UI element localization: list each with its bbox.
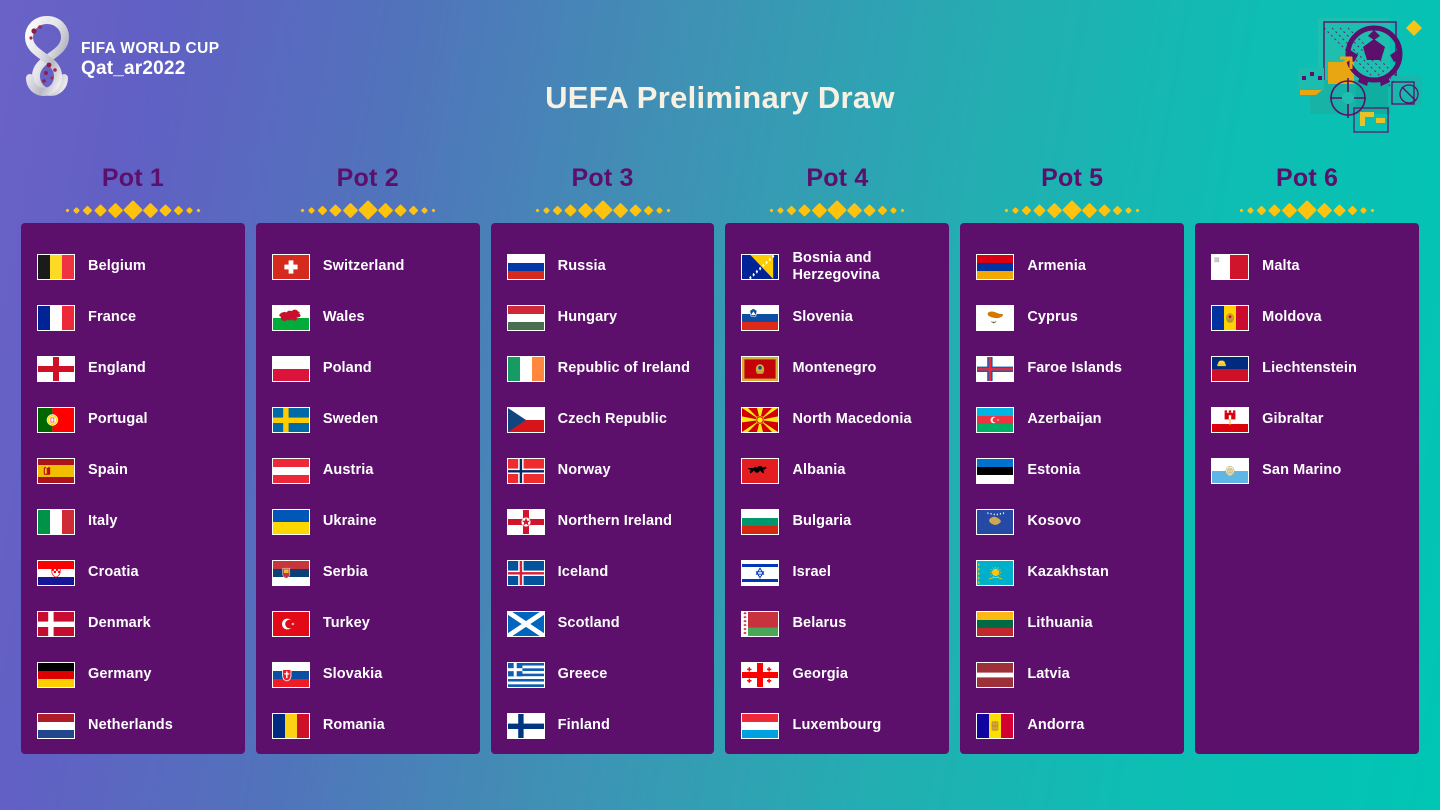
- flag-icon-sc: [507, 611, 545, 637]
- flag-icon-it: [37, 509, 75, 535]
- diamond-icon: [777, 206, 784, 213]
- team-name: Austria: [323, 462, 374, 478]
- diamond-icon: [770, 208, 774, 212]
- team-row[interactable]: Northern Ireland: [491, 496, 715, 547]
- team-row[interactable]: Norway: [491, 445, 715, 496]
- team-name: Bosnia and Herzegovina: [792, 250, 949, 282]
- team-name: Norway: [558, 462, 611, 478]
- team-name: Germany: [88, 666, 152, 682]
- flag-icon-hu: [507, 305, 545, 331]
- team-row[interactable]: Kosovo: [960, 496, 1184, 547]
- flag-icon-en: [37, 356, 75, 382]
- team-name: Andorra: [1027, 717, 1084, 733]
- diamond-icon: [300, 208, 304, 212]
- diamond-icon: [65, 208, 69, 212]
- pot-title: Pot 3: [491, 166, 715, 197]
- brand-line-fifa-world-cup: FIFA WORLD CUP: [81, 41, 220, 57]
- pot-panel: ArmeniaCyprusFaroe IslandsAzerbaijanEsto…: [960, 223, 1184, 754]
- diamond-icon: [123, 200, 143, 220]
- flag-icon-am: [976, 254, 1014, 280]
- flag-icon-sm: [1211, 458, 1249, 484]
- flag-icon-me: [741, 356, 779, 382]
- team-name: Wales: [323, 309, 365, 325]
- team-name: Latvia: [1027, 666, 1070, 682]
- qatar-2022-pattern-collage-icon: [1288, 6, 1428, 136]
- diamond-icon: [1082, 202, 1098, 218]
- team-row[interactable]: Czech Republic: [491, 394, 715, 445]
- diamond-icon: [317, 205, 327, 215]
- diamond-icon: [901, 208, 905, 212]
- page-title: UEFA Preliminary Draw: [0, 80, 1440, 116]
- team-name: San Marino: [1262, 462, 1341, 478]
- diamond-icon: [535, 208, 539, 212]
- diamond-icon: [543, 206, 550, 213]
- team-row[interactable]: Luxembourg: [725, 700, 949, 751]
- flag-icon-ro: [272, 713, 310, 739]
- team-row[interactable]: Wales: [256, 292, 480, 343]
- diamond-icon: [612, 202, 628, 218]
- pot-title: Pot 5: [960, 166, 1184, 197]
- flag-icon-al: [741, 458, 779, 484]
- team-name: Gibraltar: [1262, 411, 1323, 427]
- team-row[interactable]: Sweden: [256, 394, 480, 445]
- flag-icon-lt: [976, 611, 1014, 637]
- team-name: Kazakhstan: [1027, 564, 1109, 580]
- team-name: France: [88, 309, 136, 325]
- team-row[interactable]: Kazakhstan: [960, 547, 1184, 598]
- flag-icon-fo: [976, 356, 1014, 382]
- flag-icon-es: [37, 458, 75, 484]
- diamond-icon: [108, 202, 124, 218]
- diamond-icon: [643, 205, 653, 215]
- diamond-icon: [377, 202, 393, 218]
- team-name: Switzerland: [323, 258, 405, 274]
- team-row[interactable]: Bulgaria: [725, 496, 949, 547]
- team-name: Liechtenstein: [1262, 360, 1357, 376]
- pots-container: Pot 1BelgiumFranceEnglandPortugalSpainIt…: [21, 166, 1419, 754]
- flag-icon-nl: [37, 713, 75, 739]
- flag-icon-ie: [507, 356, 545, 382]
- diamond-icon: [799, 204, 812, 217]
- team-name: Netherlands: [88, 717, 173, 733]
- team-name: Finland: [558, 717, 610, 733]
- diamond-icon: [143, 202, 159, 218]
- flag-icon-by: [741, 611, 779, 637]
- team-row[interactable]: Scotland: [491, 598, 715, 649]
- flag-icon-tr: [272, 611, 310, 637]
- diamond-icon: [1257, 205, 1267, 215]
- team-row[interactable]: Azerbaijan: [960, 394, 1184, 445]
- team-name: Serbia: [323, 564, 368, 580]
- diamond-icon: [1136, 208, 1140, 212]
- team-name: England: [88, 360, 146, 376]
- team-row[interactable]: Latvia: [960, 649, 1184, 700]
- flag-icon-no: [507, 458, 545, 484]
- diamond-icon: [593, 200, 613, 220]
- team-name: Belgium: [88, 258, 146, 274]
- team-name: Azerbaijan: [1027, 411, 1101, 427]
- pot-title: Pot 6: [1195, 166, 1419, 197]
- team-row[interactable]: Malta: [1195, 241, 1419, 292]
- team-row[interactable]: Switzerland: [256, 241, 480, 292]
- team-name: Slovakia: [323, 666, 383, 682]
- diamond-icon: [186, 206, 193, 213]
- flag-icon-fi: [507, 713, 545, 739]
- team-name: Spain: [88, 462, 128, 478]
- flag-icon-rs: [272, 560, 310, 586]
- diamond-icon: [564, 204, 577, 217]
- diamond-icon: [656, 206, 663, 213]
- diamond-divider: [21, 197, 245, 223]
- team-name: Cyprus: [1027, 309, 1078, 325]
- team-row[interactable]: Hungary: [491, 292, 715, 343]
- pot-title: Pot 4: [725, 166, 949, 197]
- pot-column-3: Pot 3RussiaHungaryRepublic of IrelandCze…: [491, 166, 715, 754]
- team-name: Czech Republic: [558, 411, 667, 427]
- flag-icon-cy: [976, 305, 1014, 331]
- diamond-icon: [666, 208, 670, 212]
- team-row[interactable]: England: [21, 343, 245, 394]
- team-name: Belarus: [792, 615, 846, 631]
- pot-panel: MaltaMoldovaLiechtensteinGibraltarSan Ma…: [1195, 223, 1419, 754]
- flag-icon-il: [741, 560, 779, 586]
- flag-icon-lu: [741, 713, 779, 739]
- team-name: Turkey: [323, 615, 370, 631]
- team-name: Portugal: [88, 411, 148, 427]
- team-row[interactable]: Italy: [21, 496, 245, 547]
- team-name: Albania: [792, 462, 845, 478]
- team-name: Romania: [323, 717, 385, 733]
- team-row[interactable]: Faroe Islands: [960, 343, 1184, 394]
- diamond-icon: [1268, 204, 1281, 217]
- team-row[interactable]: Russia: [491, 241, 715, 292]
- flag-icon-gr: [507, 662, 545, 688]
- team-row[interactable]: Greece: [491, 649, 715, 700]
- flag-icon-se: [272, 407, 310, 433]
- diamond-icon: [577, 202, 593, 218]
- pot-panel: BelgiumFranceEnglandPortugalSpainItalyCr…: [21, 223, 245, 754]
- team-name: Hungary: [558, 309, 618, 325]
- team-row[interactable]: Bosnia and Herzegovina: [725, 241, 949, 292]
- team-name: Estonia: [1027, 462, 1080, 478]
- diamond-icon: [1297, 200, 1317, 220]
- diamond-icon: [173, 205, 183, 215]
- flag-icon-dk: [37, 611, 75, 637]
- team-row[interactable]: Andorra: [960, 700, 1184, 751]
- team-name: Denmark: [88, 615, 151, 631]
- team-name: Italy: [88, 513, 118, 529]
- team-name: Ukraine: [323, 513, 377, 529]
- flag-icon-de: [37, 662, 75, 688]
- team-name: Malta: [1262, 258, 1300, 274]
- team-row[interactable]: Republic of Ireland: [491, 343, 715, 394]
- diamond-icon: [196, 208, 200, 212]
- diamond-icon: [1348, 205, 1358, 215]
- diamond-icon: [1333, 204, 1346, 217]
- diamond-icon: [878, 205, 888, 215]
- team-row[interactable]: Austria: [256, 445, 480, 496]
- team-name: Luxembourg: [792, 717, 881, 733]
- team-name: Lithuania: [1027, 615, 1092, 631]
- diamond-icon: [552, 205, 562, 215]
- diamond-divider: [960, 197, 1184, 223]
- team-row[interactable]: Portugal: [21, 394, 245, 445]
- pot-panel: SwitzerlandWalesPolandSwedenAustriaUkrai…: [256, 223, 480, 754]
- diamond-icon: [1125, 206, 1132, 213]
- flag-icon-gi: [1211, 407, 1249, 433]
- team-name: Kosovo: [1027, 513, 1081, 529]
- team-row[interactable]: Moldova: [1195, 292, 1419, 343]
- flag-icon-mt: [1211, 254, 1249, 280]
- team-row[interactable]: Netherlands: [21, 700, 245, 751]
- team-row[interactable]: Slovenia: [725, 292, 949, 343]
- team-row[interactable]: Gibraltar: [1195, 394, 1419, 445]
- team-row[interactable]: Croatia: [21, 547, 245, 598]
- team-row[interactable]: Montenegro: [725, 343, 949, 394]
- pot-title: Pot 1: [21, 166, 245, 197]
- flag-icon-kz: [976, 560, 1014, 586]
- diamond-icon: [394, 204, 407, 217]
- team-row[interactable]: North Macedonia: [725, 394, 949, 445]
- team-row[interactable]: France: [21, 292, 245, 343]
- diamond-icon: [1370, 208, 1374, 212]
- diamond-icon: [308, 206, 315, 213]
- diamond-icon: [73, 206, 80, 213]
- pot-panel: Bosnia and HerzegovinaSloveniaMontenegro…: [725, 223, 949, 754]
- team-name: Croatia: [88, 564, 139, 580]
- team-name: Armenia: [1027, 258, 1086, 274]
- team-name: Poland: [323, 360, 372, 376]
- diamond-icon: [431, 208, 435, 212]
- diamond-divider: [1195, 197, 1419, 223]
- diamond-icon: [1005, 208, 1009, 212]
- diamond-icon: [408, 205, 418, 215]
- diamond-icon: [1247, 206, 1254, 213]
- team-row[interactable]: Germany: [21, 649, 245, 700]
- flag-icon-ee: [976, 458, 1014, 484]
- diamond-divider: [256, 197, 480, 223]
- diamond-icon: [159, 204, 172, 217]
- flag-icon-mk: [741, 407, 779, 433]
- diamond-icon: [864, 204, 877, 217]
- team-row[interactable]: Romania: [256, 700, 480, 751]
- team-name: Georgia: [792, 666, 848, 682]
- flag-icon-sk: [272, 662, 310, 688]
- diamond-icon: [890, 206, 897, 213]
- diamond-icon: [94, 204, 107, 217]
- flag-icon-az: [976, 407, 1014, 433]
- team-name: Russia: [558, 258, 606, 274]
- pot-column-4: Pot 4Bosnia and HerzegovinaSloveniaMonte…: [725, 166, 949, 754]
- pot-column-5: Pot 5ArmeniaCyprusFaroe IslandsAzerbaija…: [960, 166, 1184, 754]
- diamond-icon: [421, 206, 428, 213]
- diamond-icon: [1360, 206, 1367, 213]
- team-name: Scotland: [558, 615, 620, 631]
- team-row[interactable]: Turkey: [256, 598, 480, 649]
- team-row[interactable]: Ukraine: [256, 496, 480, 547]
- team-row[interactable]: Slovakia: [256, 649, 480, 700]
- team-row[interactable]: Iceland: [491, 547, 715, 598]
- team-row[interactable]: Finland: [491, 700, 715, 751]
- flag-icon-is: [507, 560, 545, 586]
- flag-icon-li: [1211, 356, 1249, 382]
- diamond-icon: [827, 200, 847, 220]
- diamond-icon: [1239, 208, 1243, 212]
- flag-icon-ch: [272, 254, 310, 280]
- team-name: Iceland: [558, 564, 609, 580]
- pot-column-2: Pot 2SwitzerlandWalesPolandSwedenAustria…: [256, 166, 480, 754]
- diamond-icon: [812, 202, 828, 218]
- diamond-icon: [629, 204, 642, 217]
- team-row[interactable]: Poland: [256, 343, 480, 394]
- diamond-icon: [1317, 202, 1333, 218]
- team-row[interactable]: Belgium: [21, 241, 245, 292]
- flag-icon-ni: [507, 509, 545, 535]
- diamond-icon: [342, 202, 358, 218]
- flag-icon-wa: [272, 305, 310, 331]
- flag-icon-ua: [272, 509, 310, 535]
- diamond-icon: [847, 202, 863, 218]
- team-row[interactable]: Albania: [725, 445, 949, 496]
- team-row[interactable]: Georgia: [725, 649, 949, 700]
- team-row[interactable]: Liechtenstein: [1195, 343, 1419, 394]
- team-name: Bulgaria: [792, 513, 851, 529]
- diamond-icon: [1012, 206, 1019, 213]
- flag-icon-xk: [976, 509, 1014, 535]
- flag-icon-be: [37, 254, 75, 280]
- flag-icon-hr: [37, 560, 75, 586]
- flag-icon-md: [1211, 305, 1249, 331]
- team-row[interactable]: Armenia: [960, 241, 1184, 292]
- pot-panel: RussiaHungaryRepublic of IrelandCzech Re…: [491, 223, 715, 754]
- team-name: Montenegro: [792, 360, 876, 376]
- team-row[interactable]: Cyprus: [960, 292, 1184, 343]
- team-row[interactable]: Denmark: [21, 598, 245, 649]
- pot-title: Pot 2: [256, 166, 480, 197]
- team-name: Israel: [792, 564, 831, 580]
- team-name: North Macedonia: [792, 411, 911, 427]
- diamond-icon: [1062, 200, 1082, 220]
- team-name: Northern Ireland: [558, 513, 672, 529]
- diamond-icon: [1022, 205, 1032, 215]
- flag-icon-ru: [507, 254, 545, 280]
- diamond-icon: [329, 204, 342, 217]
- team-row[interactable]: San Marino: [1195, 445, 1419, 496]
- flag-icon-cz: [507, 407, 545, 433]
- team-name: Moldova: [1262, 309, 1322, 325]
- team-name: Faroe Islands: [1027, 360, 1122, 376]
- diamond-icon: [358, 200, 378, 220]
- team-row[interactable]: Estonia: [960, 445, 1184, 496]
- diamond-icon: [1033, 204, 1046, 217]
- team-row[interactable]: Belarus: [725, 598, 949, 649]
- diamond-icon: [1047, 202, 1063, 218]
- pot-column-1: Pot 1BelgiumFranceEnglandPortugalSpainIt…: [21, 166, 245, 754]
- flag-icon-at: [272, 458, 310, 484]
- flag-icon-bg: [741, 509, 779, 535]
- team-row[interactable]: Lithuania: [960, 598, 1184, 649]
- team-name: Greece: [558, 666, 608, 682]
- brand-line-qatar-2022: Qat_ar2022: [81, 59, 220, 79]
- diamond-icon: [1113, 205, 1123, 215]
- team-row[interactable]: Spain: [21, 445, 245, 496]
- team-name: Sweden: [323, 411, 378, 427]
- diamond-icon: [82, 205, 92, 215]
- flag-icon-ge: [741, 662, 779, 688]
- team-row[interactable]: Serbia: [256, 547, 480, 598]
- flag-icon-si: [741, 305, 779, 331]
- flag-icon-lv: [976, 662, 1014, 688]
- diamond-icon: [787, 205, 797, 215]
- team-name: Slovenia: [792, 309, 852, 325]
- diamond-divider: [491, 197, 715, 223]
- flag-icon-ad: [976, 713, 1014, 739]
- team-row[interactable]: Israel: [725, 547, 949, 598]
- flag-icon-pt: [37, 407, 75, 433]
- diamond-divider: [725, 197, 949, 223]
- diamond-icon: [1098, 204, 1111, 217]
- flag-icon-pl: [272, 356, 310, 382]
- team-name: Republic of Ireland: [558, 360, 690, 376]
- flag-icon-ba: [741, 254, 779, 280]
- flag-icon-fr: [37, 305, 75, 331]
- diamond-icon: [1282, 202, 1298, 218]
- pot-column-6: Pot 6MaltaMoldovaLiechtensteinGibraltarS…: [1195, 166, 1419, 754]
